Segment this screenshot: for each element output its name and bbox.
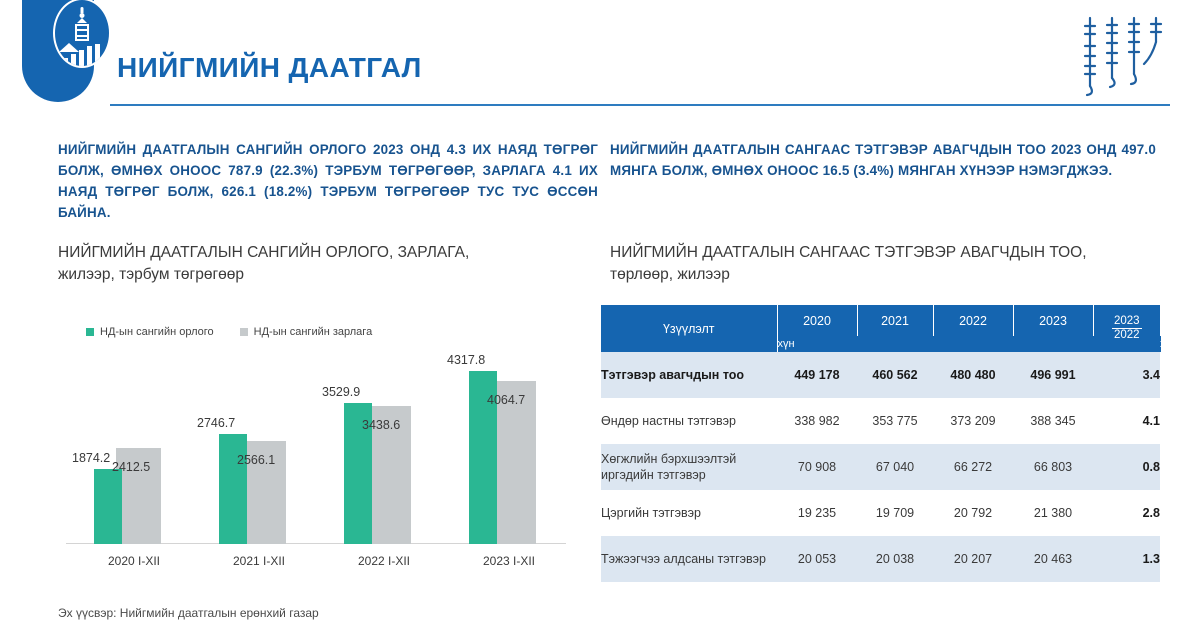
intro-paragraph-left: НИЙГМИЙН ДААТГАЛЫН САНГИЙН ОРЛОГО 2023 О… bbox=[58, 139, 598, 223]
legend-item-expense[interactable]: НД-ын сангийн зарлага bbox=[240, 326, 373, 338]
bar-label-expense: 4064.7 bbox=[487, 393, 525, 407]
table-cell-value-2023: 496 991 bbox=[1013, 352, 1093, 398]
table-cell-value-2021: 353 775 bbox=[857, 398, 933, 444]
table-cell-value-2020: 338 982 bbox=[777, 398, 857, 444]
bar-income[interactable] bbox=[219, 434, 247, 544]
chart-group: 3529.93438.62022 I-XII bbox=[324, 352, 444, 544]
table-cell-ratio: 2.8 bbox=[1093, 490, 1160, 536]
bar-chart: НД-ын сангийн орлого НД-ын сангийн зарла… bbox=[58, 312, 578, 582]
mongolian-vertical-script-icon bbox=[1076, 12, 1172, 100]
table-bottom-rule bbox=[601, 582, 1160, 584]
bar-label-income: 4317.8 bbox=[447, 353, 485, 367]
chart-group: 1874.22412.52020 I-XII bbox=[74, 352, 194, 544]
table-header-year-2021: 2021 bbox=[857, 305, 933, 336]
page-title: НИЙГМИЙН ДААТГАЛ bbox=[117, 52, 422, 84]
table-section-title: НИЙГМИЙН ДААТГАЛЫН САНГААС ТЭТГЭВЭР АВАГ… bbox=[610, 242, 1170, 286]
table-cell-value-2021: 67 040 bbox=[857, 444, 933, 490]
legend-swatch-income bbox=[86, 328, 94, 336]
table-row[interactable]: Тэжээгчээ алдсаны тэтгэвэр20 05320 03820… bbox=[601, 536, 1160, 582]
chart-group: 2746.72566.12021 I-XII bbox=[199, 352, 319, 544]
table-header-ratio-denominator: 2022 bbox=[1112, 329, 1142, 342]
table-cell-value-2021: 19 709 bbox=[857, 490, 933, 536]
table-body: Тэтгэвэр авагчдын тоо449 178460 562480 4… bbox=[601, 352, 1160, 582]
table-cell-value-2020: 20 053 bbox=[777, 536, 857, 582]
legend-swatch-expense bbox=[240, 328, 248, 336]
chart-legend: НД-ын сангийн орлого НД-ын сангийн зарла… bbox=[86, 326, 372, 338]
table-cell-value-2022: 20 792 bbox=[933, 490, 1013, 536]
table-cell-indicator: Хөгжлийн бэрхшээлтэй иргэдийн тэтгэвэр bbox=[601, 444, 777, 490]
legend-item-income[interactable]: НД-ын сангийн орлого bbox=[86, 326, 214, 338]
table-cell-indicator: Тэтгэвэр авагчдын тоо bbox=[601, 352, 777, 398]
table-cell-ratio: 1.3 bbox=[1093, 536, 1160, 582]
bar-label-expense: 2566.1 bbox=[237, 453, 275, 467]
table-cell-indicator: Өндөр настны тэтгэвэр bbox=[601, 398, 777, 444]
table-title-sub: төрлөөр, жилээр bbox=[610, 264, 1170, 286]
soyombo-chart-emblem-icon bbox=[53, 0, 111, 68]
source-note: Эх үүсвэр: Нийгмийн даатгалын ерөнхий га… bbox=[58, 606, 319, 620]
page-header: НИЙГМИЙН ДААТГАЛ bbox=[0, 0, 1200, 112]
chart-x-tick-label: 2023 I-XII bbox=[449, 554, 569, 568]
legend-label-expense: НД-ын сангийн зарлага bbox=[254, 326, 373, 338]
chart-x-tick-label: 2021 I-XII bbox=[199, 554, 319, 568]
table-cell-value-2022: 20 207 bbox=[933, 536, 1013, 582]
table-row[interactable]: Тэтгэвэр авагчдын тоо449 178460 562480 4… bbox=[601, 352, 1160, 398]
emblem-chevron-icon bbox=[59, 43, 79, 52]
intro-paragraph-right: НИЙГМИЙН ДААТГАЛЫН САНГААС ТЭТГЭВЭР АВАГ… bbox=[610, 139, 1156, 181]
table-header-year-2023: 2023 bbox=[1013, 305, 1093, 336]
table-cell-indicator: Цэргийн тэтгэвэр bbox=[601, 490, 777, 536]
table-cell-ratio: 4.1 bbox=[1093, 398, 1160, 444]
chart-section-title: НИЙГМИЙН ДААТГАЛЫН САНГИЙН ОРЛОГО, ЗАРЛА… bbox=[58, 242, 588, 286]
table-cell-value-2022: 373 209 bbox=[933, 398, 1013, 444]
table-title-main: НИЙГМИЙН ДААТГАЛЫН САНГААС ТЭТГЭВЭР АВАГ… bbox=[610, 242, 1170, 264]
table-header-year-2020: 2020 bbox=[777, 305, 857, 336]
table-cell-ratio: 3.4 bbox=[1093, 352, 1160, 398]
chart-x-tick-label: 2022 I-XII bbox=[324, 554, 444, 568]
table-cell-value-2020: 19 235 bbox=[777, 490, 857, 536]
table-row[interactable]: Өндөр настны тэтгэвэр338 982353 775373 2… bbox=[601, 398, 1160, 444]
table-cell-indicator: Тэжээгчээ алдсаны тэтгэвэр bbox=[601, 536, 777, 582]
chart-plot-area: 1874.22412.52020 I-XII2746.72566.12021 I… bbox=[66, 352, 566, 544]
table-header-ratio: 2023 2022 bbox=[1093, 305, 1160, 352]
table-cell-ratio: 0.8 bbox=[1093, 444, 1160, 490]
statistics-table: Үзүүлэлт 2020 2021 2022 2023 2023 2022 х… bbox=[601, 305, 1160, 584]
table-cell-value-2023: 388 345 bbox=[1013, 398, 1093, 444]
organization-logo bbox=[22, 0, 94, 102]
chart-x-tick-label: 2020 I-XII bbox=[74, 554, 194, 568]
table-cell-value-2023: 20 463 bbox=[1013, 536, 1093, 582]
bar-label-expense: 2412.5 bbox=[112, 460, 150, 474]
bar-label-income: 1874.2 bbox=[72, 451, 110, 465]
table-cell-value-2020: 449 178 bbox=[777, 352, 857, 398]
table-header-indicator: Үзүүлэлт bbox=[601, 305, 777, 352]
table-header-year-2022: 2022 bbox=[933, 305, 1013, 336]
table-header-row-years: Үзүүлэлт 2020 2021 2022 2023 2023 2022 bbox=[601, 305, 1160, 336]
header-divider bbox=[110, 104, 1170, 106]
table-cell-value-2021: 460 562 bbox=[857, 352, 933, 398]
bar-label-income: 3529.9 bbox=[322, 385, 360, 399]
table-row[interactable]: Хөгжлийн бэрхшээлтэй иргэдийн тэтгэвэр70… bbox=[601, 444, 1160, 490]
table-cell-value-2020: 70 908 bbox=[777, 444, 857, 490]
chart-group: 4317.84064.72023 I-XII bbox=[449, 352, 569, 544]
table-header-unit-person: хүн bbox=[777, 336, 1093, 352]
table-cell-value-2021: 20 038 bbox=[857, 536, 933, 582]
chart-title-sub: жилээр, тэрбум төгрөгөөр bbox=[58, 264, 588, 286]
table-row[interactable]: Цэргийн тэтгэвэр19 23519 70920 79221 380… bbox=[601, 490, 1160, 536]
table-cell-value-2022: 480 480 bbox=[933, 352, 1013, 398]
bar-label-expense: 3438.6 bbox=[362, 418, 400, 432]
bar-label-income: 2746.7 bbox=[197, 416, 235, 430]
table-cell-value-2022: 66 272 bbox=[933, 444, 1013, 490]
chart-title-main: НИЙГМИЙН ДААТГАЛЫН САНГИЙН ОРЛОГО, ЗАРЛА… bbox=[58, 242, 588, 264]
legend-label-income: НД-ын сангийн орлого bbox=[100, 326, 214, 338]
bar-income[interactable] bbox=[94, 469, 122, 544]
table-header-ratio-numerator: 2023 bbox=[1112, 315, 1142, 329]
table-cell-value-2023: 66 803 bbox=[1013, 444, 1093, 490]
table-cell-value-2023: 21 380 bbox=[1013, 490, 1093, 536]
